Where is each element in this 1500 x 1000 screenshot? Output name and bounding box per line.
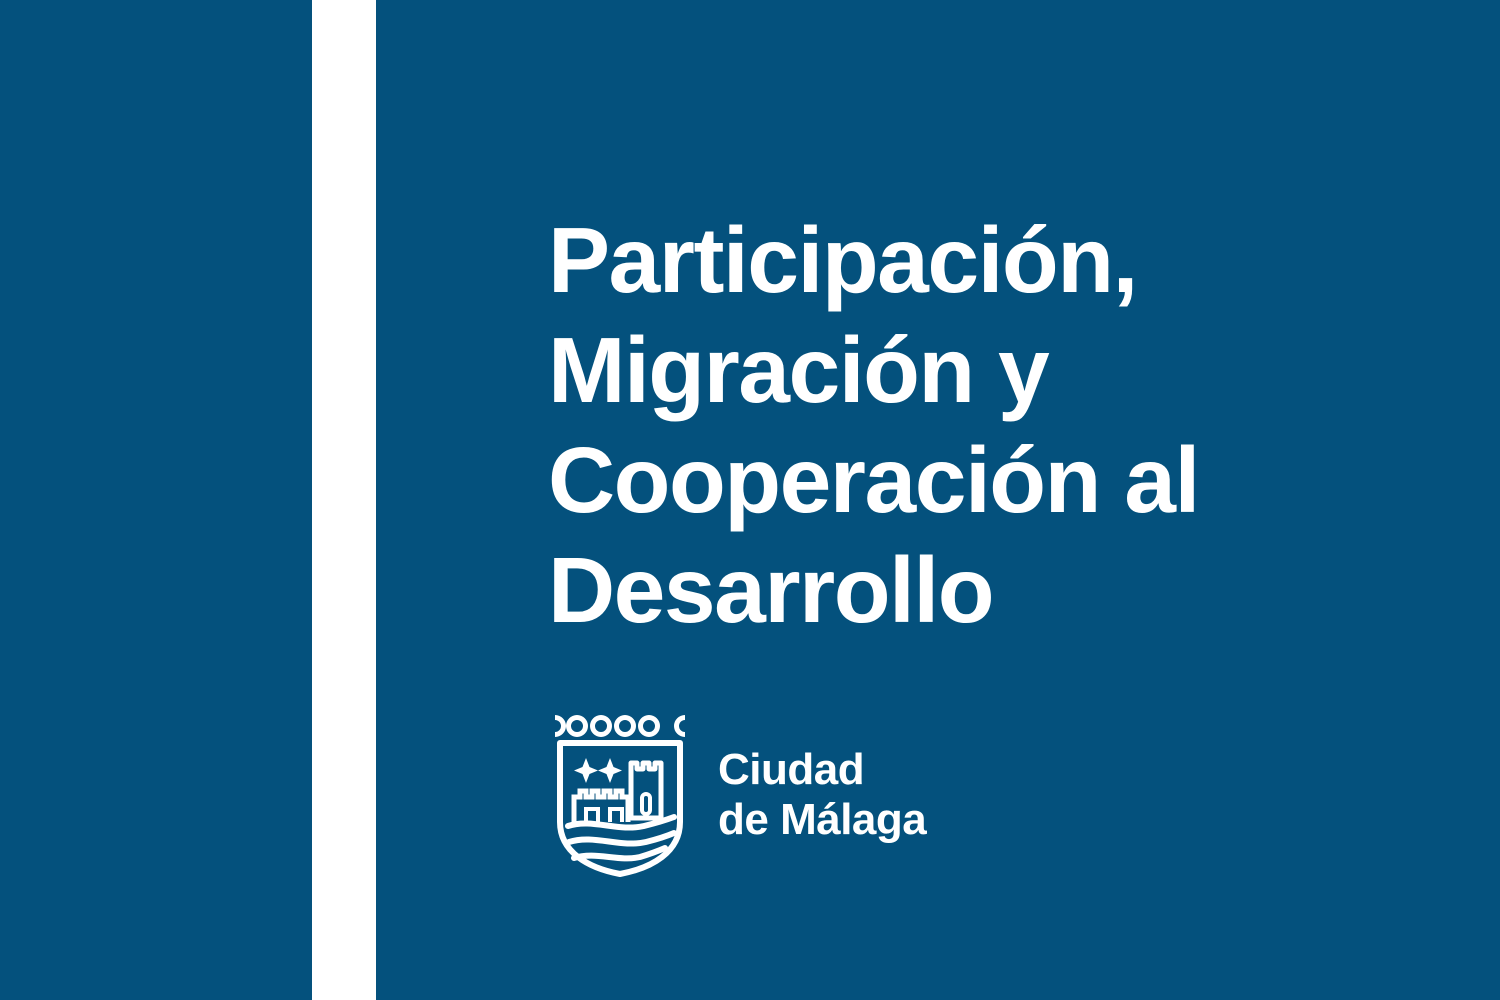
logo-word-line-2: de Málaga <box>718 795 926 845</box>
main-blue-panel: Participación, Migración y Cooperación a… <box>376 0 1500 1000</box>
logo-word-line-1: Ciudad <box>718 745 926 795</box>
title-line-3: Cooperación al <box>548 425 1308 535</box>
malaga-shield-crest-icon <box>552 712 688 877</box>
left-blue-panel <box>0 0 312 1000</box>
content-column: Participación, Migración y Cooperación a… <box>548 0 1448 1000</box>
vertical-white-divider-stripe <box>312 0 376 1000</box>
poster-canvas: Participación, Migración y Cooperación a… <box>0 0 1500 1000</box>
logo-wordmark: Ciudad de Málaga <box>718 712 926 845</box>
title-line-1: Participación, <box>548 205 1308 315</box>
title-line-2: Migración y <box>548 315 1308 425</box>
page-title: Participación, Migración y Cooperación a… <box>548 205 1308 645</box>
title-line-4: Desarrollo <box>548 535 1308 645</box>
ciudad-de-malaga-logo: Ciudad de Málaga <box>552 712 926 877</box>
